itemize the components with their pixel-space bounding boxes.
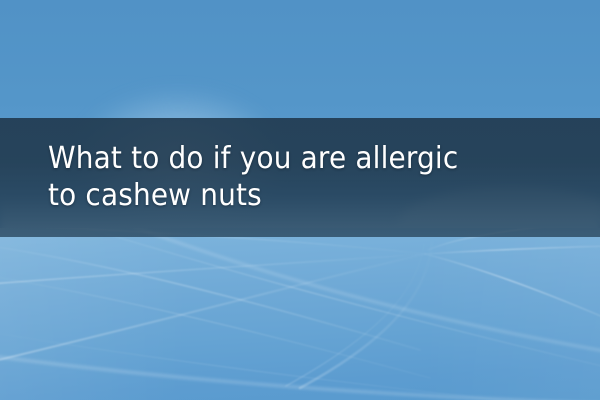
article-title-card: What to do if you are allergic to cashew… (0, 0, 600, 400)
page-title: What to do if you are allergic to cashew… (48, 140, 543, 214)
ice-streak-marks (0, 228, 600, 400)
title-overlay-band: What to do if you are allergic to cashew… (0, 118, 600, 237)
